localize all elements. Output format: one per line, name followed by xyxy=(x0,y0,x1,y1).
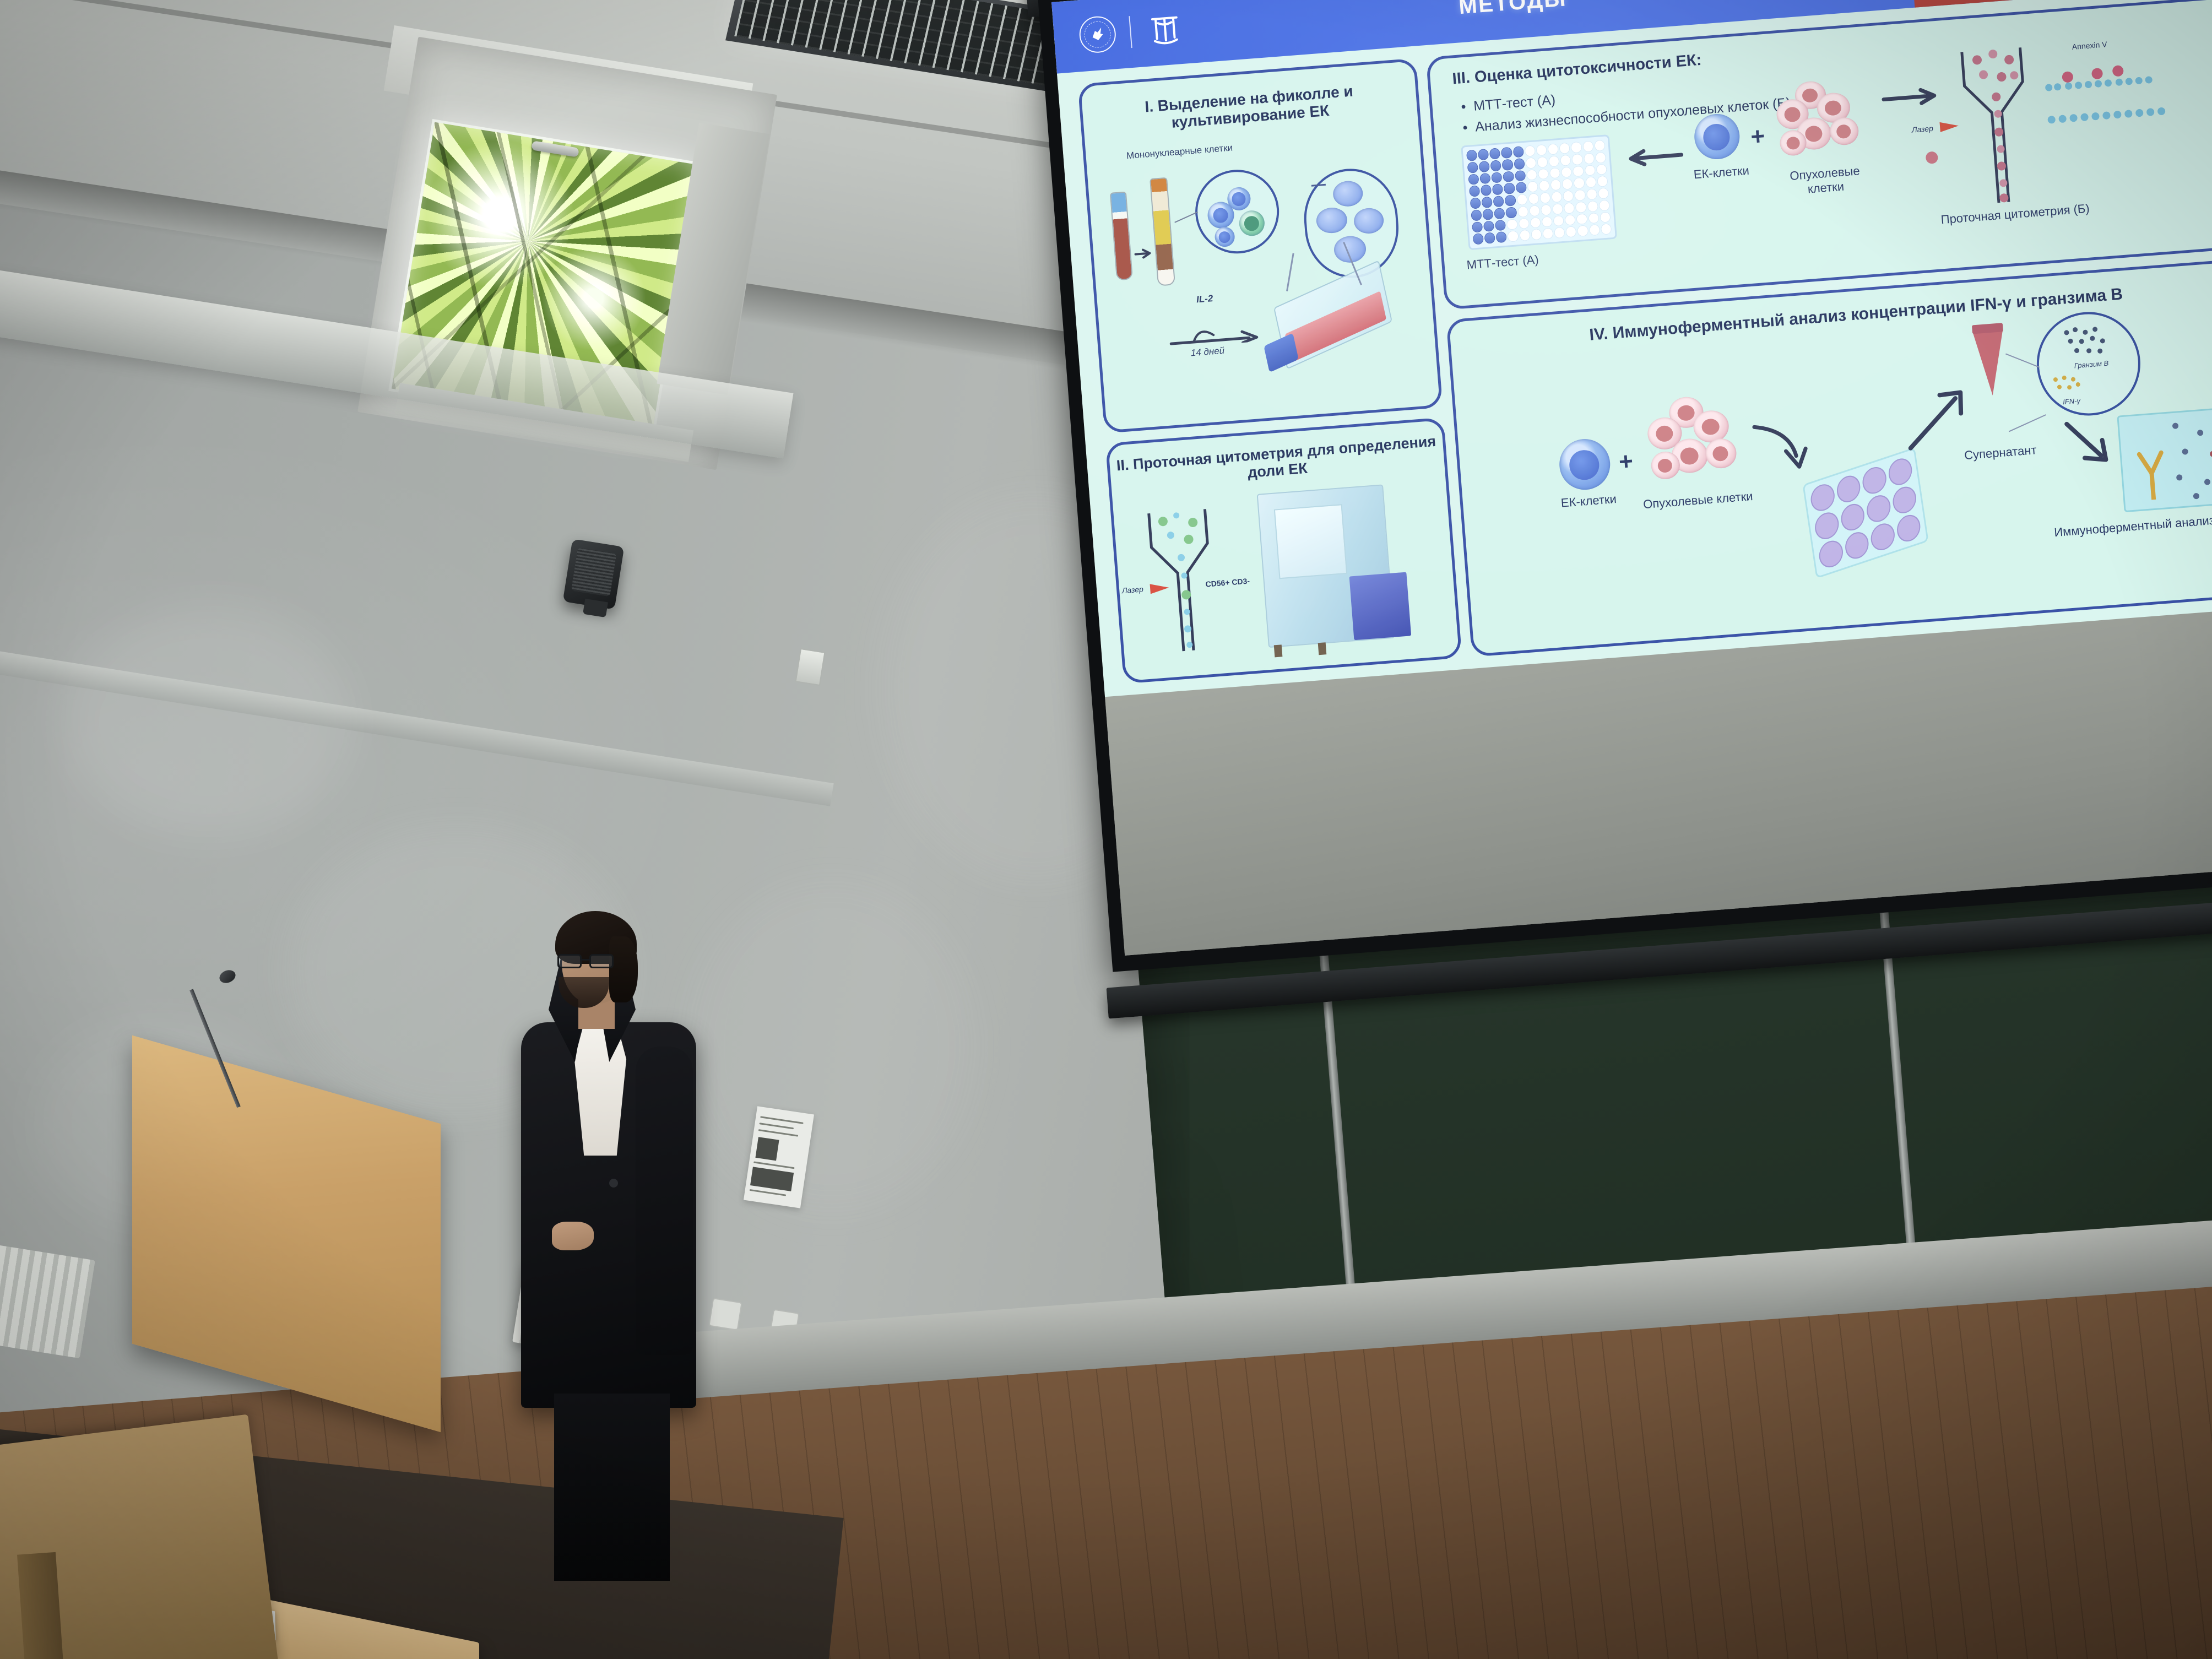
annexin-v-binding-icon xyxy=(2043,52,2167,100)
tumor-cells-icon xyxy=(1643,393,1749,492)
section-i-title: I. Выделение на фиколле и культивировани… xyxy=(1082,78,1417,139)
glasses-icon xyxy=(557,954,619,969)
cell-stream-dots xyxy=(1953,44,2048,210)
ficoll-tube-icon xyxy=(1150,177,1175,286)
presentation-slide: МЕТОДЫ 80 ПОБЕДА! xyxy=(1051,0,2212,697)
header-logos xyxy=(1078,8,1186,56)
supernatant-conical-tube-icon xyxy=(1972,328,2008,397)
presenter-legs xyxy=(554,1394,670,1581)
laser-beam-icon xyxy=(1150,583,1169,594)
tumor-cells-icon xyxy=(1771,77,1869,166)
section-i-label-mononuclear: Мононуклеарные клетки xyxy=(1097,140,1262,164)
method-section-ii: II. Проточная цитометрия для определения… xyxy=(1105,418,1462,684)
section-iv-label-tumor-cells: Опухолевые клетки xyxy=(1642,489,1753,512)
flask-medium xyxy=(1285,291,1386,362)
cell-icon xyxy=(1214,226,1235,248)
section-iii-label-mtt: МТТ-тест (А) xyxy=(1466,249,1588,273)
section-iii-label-tumor-cells: Опухолевые клетки xyxy=(1772,162,1878,199)
nk-cell-icon xyxy=(1332,180,1364,208)
flow-cytometry-funnel-icon xyxy=(1953,44,2048,210)
arrow-up-right-icon xyxy=(1902,383,1977,452)
elisa-plate-icon xyxy=(2117,405,2212,512)
logo-divider xyxy=(1129,16,1132,48)
speaker-grill xyxy=(571,547,616,597)
wall-speaker-icon xyxy=(563,539,625,609)
section-iv-label-nk-cells: ЕК-клетки xyxy=(1544,491,1634,512)
section-iv-label-elisa: Иммуноферментный анализ (ИФА) xyxy=(2048,510,2212,540)
screen-surface: МЕТОДЫ 80 ПОБЕДА! xyxy=(1051,0,2212,956)
analyte-dots xyxy=(2119,408,2212,511)
jacket-button xyxy=(609,1179,618,1188)
nk-cell-icon xyxy=(1315,207,1348,234)
cytometer-screen xyxy=(1274,504,1348,579)
section-iii-label-nk-cells: ЕК-клетки xyxy=(1680,162,1763,183)
projection-screen: МЕТОДЫ 80 ПОБЕДА! xyxy=(1035,0,2212,999)
plus-sign: + xyxy=(1618,447,1634,476)
section-iii-label-laser: Лазер xyxy=(1905,123,1940,135)
arrow-left-icon xyxy=(1624,145,1685,169)
presenter-hand xyxy=(552,1222,594,1250)
victory-badge: 80 ПОБЕДА! xyxy=(1909,0,2079,8)
lectern-top xyxy=(132,1035,441,1433)
screen-frame: МЕТОДЫ 80 ПОБЕДА! xyxy=(1037,0,2212,972)
laser-beam-icon xyxy=(1939,121,1959,132)
presenter-arm xyxy=(636,1047,693,1355)
university-seal-icon xyxy=(1078,15,1117,54)
arrow-right-icon xyxy=(1880,86,1942,109)
culture-flask-icon xyxy=(1273,260,1392,370)
method-section-i: I. Выделение на фиколле и культивировани… xyxy=(1078,58,1443,433)
nk-cell-icon xyxy=(1353,207,1384,235)
arrow-curve-down-icon xyxy=(1749,418,1820,481)
flow-cytometer-icon xyxy=(1257,484,1395,648)
arrow-14days-icon xyxy=(1165,322,1266,349)
blood-tube-icon xyxy=(1110,192,1133,281)
nk-cell-icon xyxy=(1558,437,1612,492)
pillar-emblem-icon xyxy=(1144,8,1186,51)
flask-cap xyxy=(1264,333,1298,372)
section-ii-title: II. Проточная цитометрия для определения… xyxy=(1109,432,1445,492)
arrow-right-icon xyxy=(1134,247,1154,261)
12-well-plate-icon xyxy=(1802,447,1928,579)
magnifier-cytokines-icon: Гранзим B IFN-γ xyxy=(2033,308,2144,420)
method-section-iii: III. Оценка цитотоксичности ЕК: • МТТ-те… xyxy=(1426,0,2212,310)
section-i-label-il2: IL-2 xyxy=(1180,292,1230,307)
arrow-down-right-icon xyxy=(2062,416,2119,470)
plus-sign: + xyxy=(1750,122,1766,151)
section-iii-label-annexin: Annexin V xyxy=(2056,39,2123,53)
method-section-iv: IV. Иммуноферментный анализ концентрации… xyxy=(1446,257,2212,657)
cytometer-bin xyxy=(1349,572,1411,641)
wall-sensor-device xyxy=(795,648,825,686)
membrane-row-icon xyxy=(2047,106,2175,129)
granzyme-b-dots xyxy=(2061,324,2116,364)
presenter-hair-side xyxy=(609,936,638,1002)
cell-icon xyxy=(1238,210,1265,237)
mtt-96-well-plate-icon xyxy=(1461,134,1617,250)
magnifier-mononuclear-icon xyxy=(1192,167,1282,257)
presenter xyxy=(501,920,722,1570)
lecture-room-scene: МЕТОДЫ 80 ПОБЕДА! xyxy=(0,0,2212,1659)
